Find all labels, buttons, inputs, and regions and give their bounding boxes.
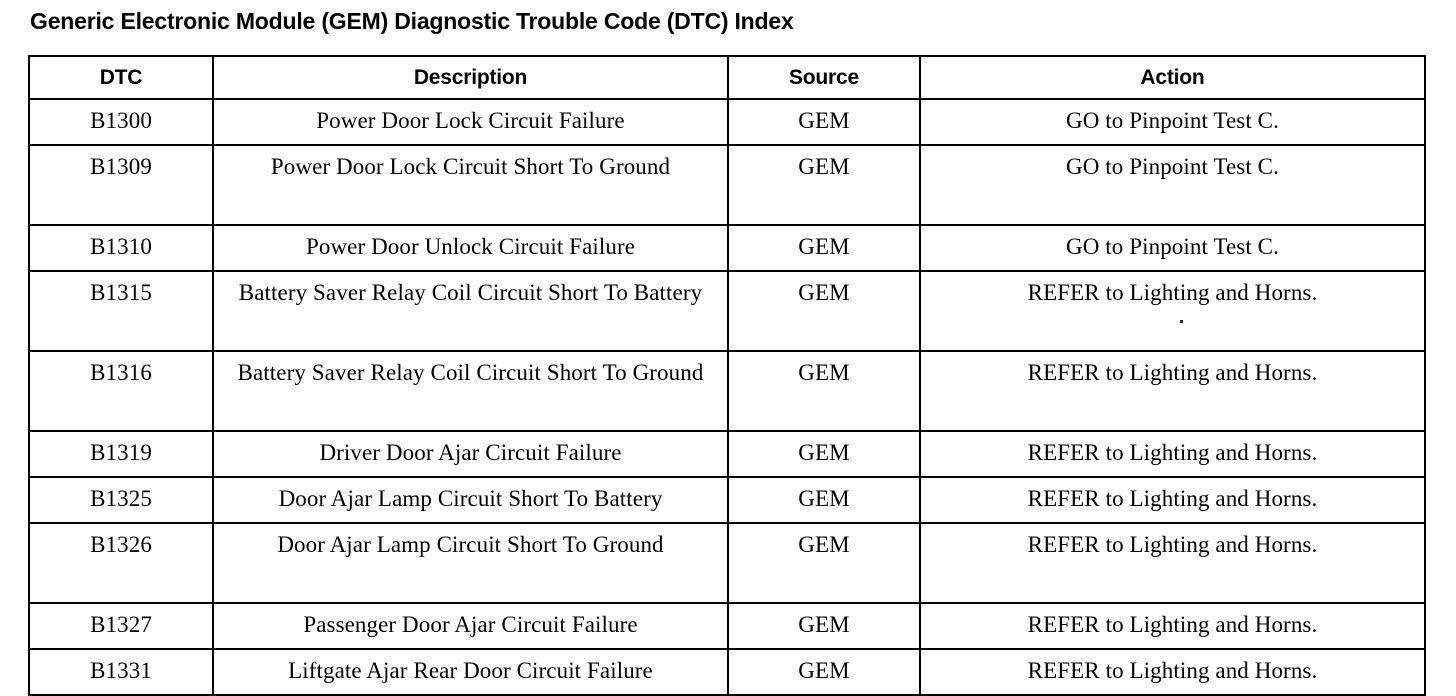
cell-action-text: REFER to Lighting and Horns. — [921, 653, 1424, 689]
page-title: Generic Electronic Module (GEM) Diagnost… — [30, 7, 794, 35]
cell-action: GO to Pinpoint Test C. — [920, 145, 1425, 225]
cell-action: REFER to Lighting and Horns. — [920, 477, 1425, 523]
cell-action-text: REFER to Lighting and Horns. — [921, 275, 1424, 311]
table-row: B1331Liftgate Ajar Rear Door Circuit Fai… — [29, 649, 1425, 695]
table-row: B1310Power Door Unlock Circuit FailureGE… — [29, 225, 1425, 271]
cell-description-text: Power Door Lock Circuit Short To Ground — [214, 149, 727, 185]
cell-action-text: GO to Pinpoint Test C. — [921, 103, 1424, 139]
table-header-row: DTC Description Source Action — [29, 56, 1425, 99]
cell-dtc: B1300 — [29, 99, 213, 145]
cell-dtc: B1310 — [29, 225, 213, 271]
cell-description-text: Passenger Door Ajar Circuit Failure — [214, 607, 727, 643]
table-row: B1326Door Ajar Lamp Circuit Short To Gro… — [29, 523, 1425, 603]
cell-dtc: B1331 — [29, 649, 213, 695]
cell-action-text: GO to Pinpoint Test C. — [921, 149, 1424, 185]
cell-action: REFER to Lighting and Horns. — [920, 649, 1425, 695]
column-header-source: Source — [728, 56, 920, 99]
cell-source: GEM — [728, 477, 920, 523]
cell-source: GEM — [728, 523, 920, 603]
cell-source-text: GEM — [729, 229, 919, 265]
cell-description: Driver Door Ajar Circuit Failure — [213, 431, 728, 477]
cell-source-text: GEM — [729, 607, 919, 643]
cell-action-text: REFER to Lighting and Horns. — [921, 527, 1424, 563]
cell-source: GEM — [728, 649, 920, 695]
cell-description: Power Door Lock Circuit Failure — [213, 99, 728, 145]
cell-description-text: Door Ajar Lamp Circuit Short To Battery — [214, 481, 727, 517]
cell-source: GEM — [728, 431, 920, 477]
cell-dtc: B1325 — [29, 477, 213, 523]
cell-action-text: REFER to Lighting and Horns. — [921, 435, 1424, 471]
cell-description: Power Door Lock Circuit Short To Ground — [213, 145, 728, 225]
table-row: B1325Door Ajar Lamp Circuit Short To Bat… — [29, 477, 1425, 523]
cell-action: REFER to Lighting and Horns. — [920, 271, 1425, 351]
cell-dtc-text: B1309 — [30, 149, 212, 185]
cell-source-text: GEM — [729, 275, 919, 311]
cell-action-text: REFER to Lighting and Horns. — [921, 481, 1424, 517]
cell-description-text: Liftgate Ajar Rear Door Circuit Failure — [214, 653, 727, 689]
cell-action: GO to Pinpoint Test C. — [920, 99, 1425, 145]
cell-source-text: GEM — [729, 527, 919, 563]
cell-dtc-text: B1319 — [30, 435, 212, 471]
cell-description-text: Door Ajar Lamp Circuit Short To Ground — [214, 527, 727, 563]
cell-source: GEM — [728, 603, 920, 649]
table-row: B1300Power Door Lock Circuit FailureGEMG… — [29, 99, 1425, 145]
cell-action-text: GO to Pinpoint Test C. — [921, 229, 1424, 265]
document-page: Generic Electronic Module (GEM) Diagnost… — [0, 0, 1456, 678]
cell-source-text: GEM — [729, 103, 919, 139]
cell-source: GEM — [728, 225, 920, 271]
cell-source: GEM — [728, 351, 920, 431]
cell-action: GO to Pinpoint Test C. — [920, 225, 1425, 271]
cell-action: REFER to Lighting and Horns. — [920, 523, 1425, 603]
cell-dtc: B1326 — [29, 523, 213, 603]
cell-source-text: GEM — [729, 355, 919, 391]
cell-dtc-text: B1327 — [30, 607, 212, 643]
cell-description: Liftgate Ajar Rear Door Circuit Failure — [213, 649, 728, 695]
cell-source: GEM — [728, 145, 920, 225]
cell-action-text: REFER to Lighting and Horns. — [921, 607, 1424, 643]
cell-source-text: GEM — [729, 149, 919, 185]
cell-dtc-text: B1326 — [30, 527, 212, 563]
table-header: DTC Description Source Action — [29, 56, 1425, 99]
cell-description-text: Power Door Lock Circuit Failure — [214, 103, 727, 139]
cell-source-text: GEM — [729, 653, 919, 689]
cell-dtc: B1315 — [29, 271, 213, 351]
scan-artifact-speck — [1180, 320, 1183, 323]
cell-source-text: GEM — [729, 481, 919, 517]
cell-dtc-text: B1331 — [30, 653, 212, 689]
cell-dtc-text: B1325 — [30, 481, 212, 517]
column-header-dtc: DTC — [29, 56, 213, 99]
cell-description-text: Battery Saver Relay Coil Circuit Short T… — [214, 275, 727, 311]
cell-description-text: Battery Saver Relay Coil Circuit Short T… — [214, 355, 727, 391]
cell-description: Power Door Unlock Circuit Failure — [213, 225, 728, 271]
cell-dtc: B1327 — [29, 603, 213, 649]
cell-dtc-text: B1300 — [30, 103, 212, 139]
dtc-index-table: DTC Description Source Action B1300Power… — [28, 55, 1426, 696]
cell-action: REFER to Lighting and Horns. — [920, 431, 1425, 477]
cell-dtc: B1316 — [29, 351, 213, 431]
cell-source: GEM — [728, 271, 920, 351]
cell-dtc-text: B1316 — [30, 355, 212, 391]
cell-dtc-text: B1315 — [30, 275, 212, 311]
table-row: B1309Power Door Lock Circuit Short To Gr… — [29, 145, 1425, 225]
cell-description: Battery Saver Relay Coil Circuit Short T… — [213, 351, 728, 431]
table-row: B1327Passenger Door Ajar Circuit Failure… — [29, 603, 1425, 649]
cell-description-text: Driver Door Ajar Circuit Failure — [214, 435, 727, 471]
table-row: B1319Driver Door Ajar Circuit FailureGEM… — [29, 431, 1425, 477]
cell-source-text: GEM — [729, 435, 919, 471]
column-header-description: Description — [213, 56, 728, 99]
cell-action: REFER to Lighting and Horns. — [920, 603, 1425, 649]
table-row: B1316Battery Saver Relay Coil Circuit Sh… — [29, 351, 1425, 431]
column-header-action: Action — [920, 56, 1425, 99]
cell-action: REFER to Lighting and Horns. — [920, 351, 1425, 431]
cell-dtc: B1319 — [29, 431, 213, 477]
cell-action-text: REFER to Lighting and Horns. — [921, 355, 1424, 391]
cell-description-text: Power Door Unlock Circuit Failure — [214, 229, 727, 265]
cell-description: Door Ajar Lamp Circuit Short To Ground — [213, 523, 728, 603]
cell-description: Passenger Door Ajar Circuit Failure — [213, 603, 728, 649]
cell-dtc-text: B1310 — [30, 229, 212, 265]
cell-source: GEM — [728, 99, 920, 145]
cell-dtc: B1309 — [29, 145, 213, 225]
cell-description: Battery Saver Relay Coil Circuit Short T… — [213, 271, 728, 351]
table-row: B1315Battery Saver Relay Coil Circuit Sh… — [29, 271, 1425, 351]
cell-description: Door Ajar Lamp Circuit Short To Battery — [213, 477, 728, 523]
table-body: B1300Power Door Lock Circuit FailureGEMG… — [29, 99, 1425, 695]
